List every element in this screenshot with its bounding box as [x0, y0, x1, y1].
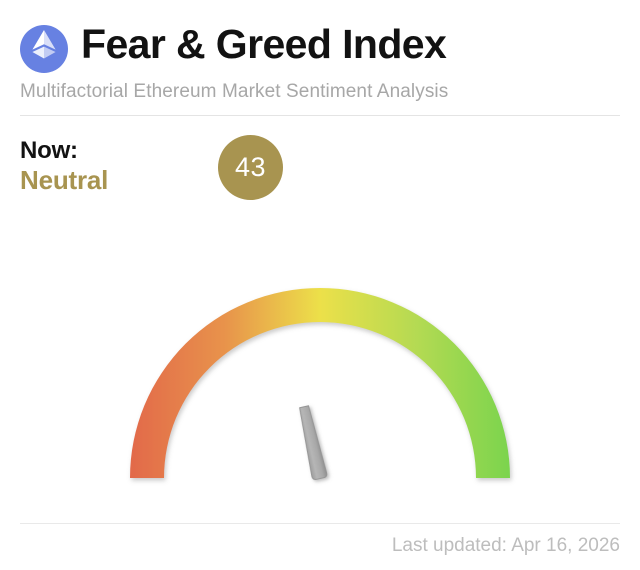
header-divider [20, 115, 620, 116]
last-updated-text: Last updated: Apr 16, 2026 [392, 535, 620, 557]
ethereum-diamond-icon [31, 29, 57, 69]
gauge-chart [110, 195, 530, 495]
score-value: 43 [235, 152, 266, 183]
current-status: Now: Neutral [20, 136, 108, 197]
status-label: Now: [20, 136, 108, 165]
status-value: Neutral [20, 165, 108, 197]
footer-divider [20, 523, 620, 524]
fear-greed-index-widget: Fear & Greed Index Multifactorial Ethere… [0, 0, 640, 570]
gauge-svg [110, 195, 530, 495]
header: Fear & Greed Index Multifactorial Ethere… [0, 0, 640, 115]
gauge-needle [297, 405, 328, 480]
page-subtitle: Multifactorial Ethereum Market Sentiment… [20, 81, 448, 103]
page-title: Fear & Greed Index [81, 19, 446, 70]
score-badge: 43 [218, 135, 283, 200]
ethereum-icon [20, 25, 68, 73]
